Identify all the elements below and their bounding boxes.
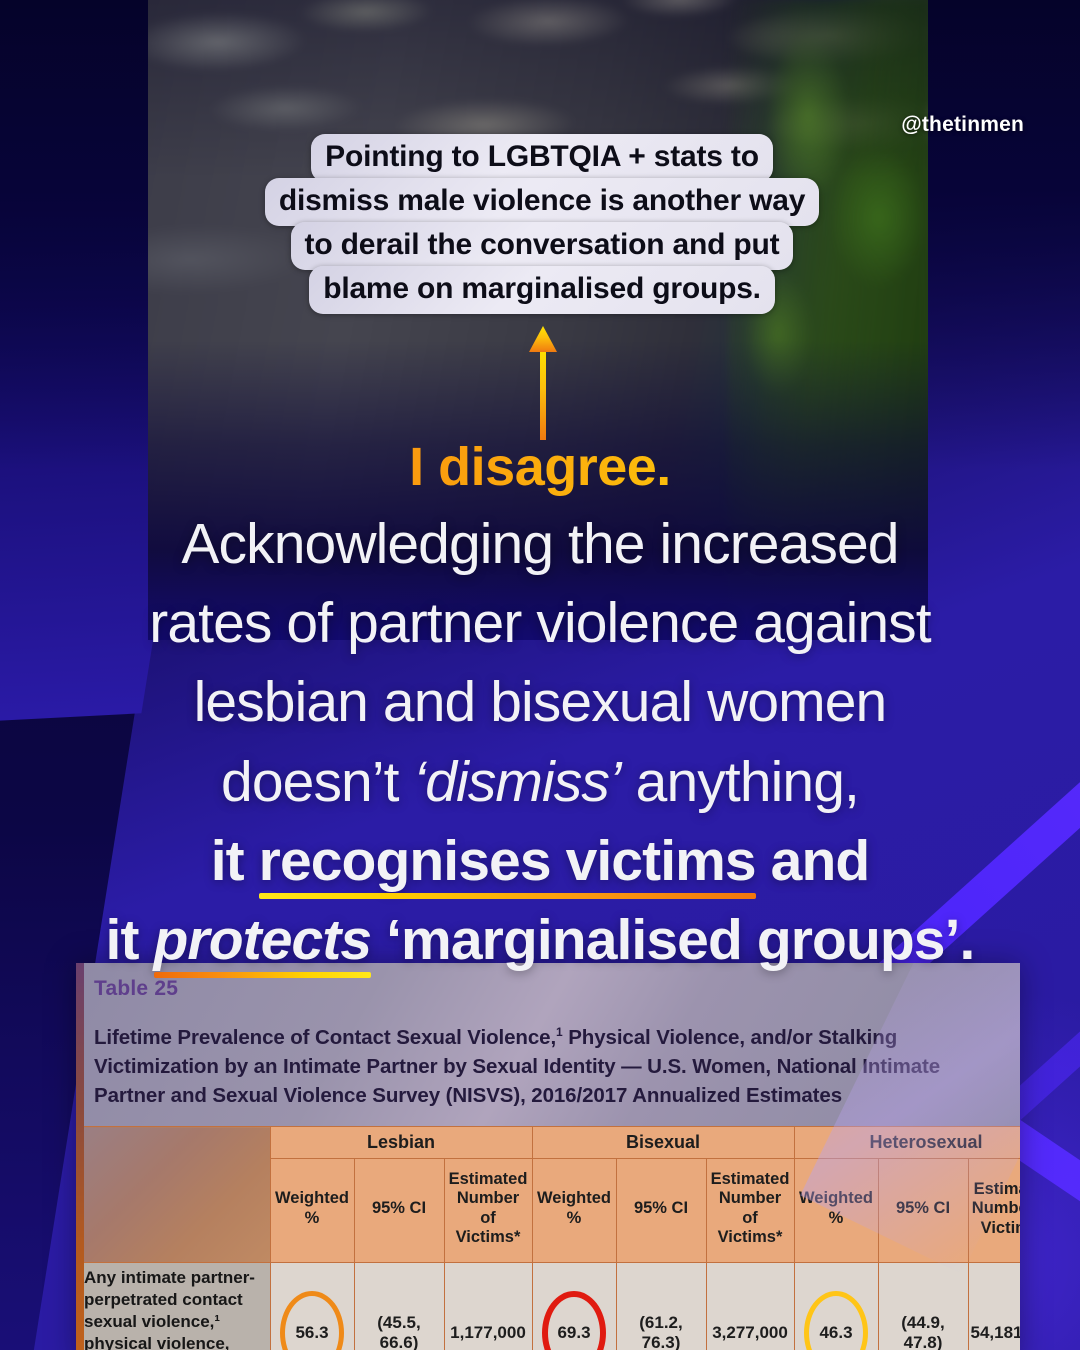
row-label-line: Any intimate partner-	[84, 1268, 255, 1287]
table-title-footnote-marker: 1	[556, 1025, 563, 1039]
quote-line-text: to derail the conversation and put	[291, 222, 794, 270]
cell-value: 56.3	[295, 1323, 328, 1342]
body-line-6-underlined-text: protects	[154, 908, 372, 972]
subheader-text: Estimated	[449, 1170, 528, 1188]
body-line-5-underlined-text: recognises victims	[259, 829, 756, 893]
body-line-5: it recognises victims and	[0, 822, 1080, 901]
subheader-text: %	[305, 1209, 320, 1227]
poster-canvas: @thetinmen Pointing to LGBTQIA + stats t…	[0, 0, 1080, 1350]
body-line-5-a: it	[211, 829, 259, 893]
body-line-2: rates of partner violence against	[0, 584, 1080, 663]
body-copy: Acknowledging the increased rates of par…	[0, 505, 1080, 980]
quote-line: blame on marginalised groups.	[232, 270, 852, 314]
cell-value: 46.3	[819, 1323, 852, 1342]
prevalence-table: Lesbian Bisexual Heterosexual Weighted% …	[76, 1126, 1020, 1350]
quote-line: dismiss male violence is another way	[232, 182, 852, 226]
cell-value: 69.3	[557, 1323, 590, 1342]
body-line-5-underlined: recognises victims	[259, 822, 756, 901]
subheader-text: %	[567, 1209, 582, 1227]
table-title-line-1a: Lifetime Prevalence of Contact Sexual Vi…	[94, 1026, 556, 1049]
cell-content: 69.3	[535, 1323, 614, 1343]
table-card-header: Table 25 Lifetime Prevalence of Contact …	[76, 963, 1020, 1126]
cell-lesbian-ci: (45.5, 66.6)	[354, 1263, 444, 1350]
subheader-text: %	[829, 1209, 844, 1227]
cell-lesbian-weighted: 56.3	[270, 1263, 354, 1350]
table-row: Any intimate partner- perpetrated contac…	[76, 1263, 1020, 1350]
body-line-6-underlined: protects	[154, 901, 372, 980]
group-header-bisexual: Bisexual	[532, 1127, 794, 1159]
subheader-text: Weighted	[275, 1189, 349, 1207]
row-label-line: sexual violence,¹	[84, 1312, 220, 1331]
table-number: Table 25	[94, 977, 1002, 1001]
cell-content: 56.3	[273, 1323, 352, 1343]
table-title-line-3: Partner and Sexual Violence Survey (NISV…	[94, 1084, 842, 1107]
cell-hetero-estimated: 54,181,000	[968, 1263, 1020, 1350]
subheader-hetero-weighted: Weighted%	[794, 1159, 878, 1263]
table-title: Lifetime Prevalence of Contact Sexual Vi…	[94, 1023, 1002, 1110]
quote-line-text: blame on marginalised groups.	[309, 266, 775, 314]
table-card-left-edge	[76, 963, 84, 1350]
subheader-text: Estimated	[711, 1170, 790, 1188]
subheader-text: Victims*	[981, 1219, 1020, 1237]
body-line-6: it protects ‘marginalised groups’.	[0, 901, 1080, 980]
subheader-text: Number of	[457, 1189, 519, 1226]
cell-lesbian-estimated: 1,177,000	[444, 1263, 532, 1350]
cell-content: 46.3	[797, 1323, 876, 1343]
subheader-hetero-ci: 95% CI	[878, 1159, 968, 1263]
table-title-line-1b: Physical Violence, and/or Stalking	[563, 1026, 898, 1049]
row-label: Any intimate partner- perpetrated contac…	[76, 1263, 270, 1350]
row-label-line: physical violence, and/	[84, 1334, 230, 1350]
body-line-4-emphasis: ‘dismiss’	[414, 750, 621, 814]
up-arrow-icon	[527, 326, 559, 445]
table-corner-cell	[76, 1127, 270, 1263]
account-handle: @thetinmen	[901, 113, 1024, 137]
body-line-4-a: doesn’t	[221, 750, 413, 814]
headline-disagree: I disagree.	[0, 436, 1080, 498]
subheader-lesbian-estimated: EstimatedNumber ofVictims*	[444, 1159, 532, 1263]
body-line-6-b: ‘marginalised groups’.	[371, 908, 974, 972]
cell-bisexual-estimated: 3,277,000	[706, 1263, 794, 1350]
body-line-3: lesbian and bisexual women	[0, 663, 1080, 742]
subheader-text: Victims*	[718, 1228, 783, 1246]
body-line-4-b: anything,	[621, 750, 859, 814]
table-card: Table 25 Lifetime Prevalence of Contact …	[76, 963, 1020, 1350]
subheader-hetero-estimated: EstimatedNumber ofVictims*	[968, 1159, 1020, 1263]
subheader-lesbian-weighted: Weighted%	[270, 1159, 354, 1263]
subheader-text: Weighted	[537, 1189, 611, 1207]
subheader-bisexual-ci: 95% CI	[616, 1159, 706, 1263]
group-header-heterosexual: Heterosexual	[794, 1127, 1020, 1159]
subheader-bisexual-estimated: EstimatedNumber ofVictims*	[706, 1159, 794, 1263]
quote-bubble: Pointing to LGBTQIA + stats to dismiss m…	[232, 134, 852, 314]
quote-line: to derail the conversation and put	[232, 226, 852, 270]
cell-hetero-weighted: 46.3	[794, 1263, 878, 1350]
body-line-1: Acknowledging the increased	[0, 505, 1080, 584]
subheader-text: Victims*	[456, 1228, 521, 1246]
cell-hetero-ci: (44.9, 47.8)	[878, 1263, 968, 1350]
quote-line-text: Pointing to LGBTQIA + stats to	[311, 134, 773, 182]
subheader-text: Weighted	[799, 1189, 873, 1207]
quote-line: Pointing to LGBTQIA + stats to	[232, 134, 852, 182]
quote-line-text: dismiss male violence is another way	[265, 178, 819, 226]
subheader-text: Number of	[972, 1199, 1020, 1217]
subheader-text: Estimated	[974, 1180, 1020, 1198]
cell-bisexual-ci: (61.2, 76.3)	[616, 1263, 706, 1350]
body-line-5-b: and	[756, 829, 870, 893]
body-line-6-a: it	[106, 908, 154, 972]
cell-bisexual-weighted: 69.3	[532, 1263, 616, 1350]
row-label-line: perpetrated contact	[84, 1290, 243, 1309]
subheader-lesbian-ci: 95% CI	[354, 1159, 444, 1263]
group-header-lesbian: Lesbian	[270, 1127, 532, 1159]
subheader-text: Number of	[719, 1189, 781, 1226]
subheader-bisexual-weighted: Weighted%	[532, 1159, 616, 1263]
body-line-4: doesn’t ‘dismiss’ anything,	[0, 743, 1080, 822]
table-group-header-row: Lesbian Bisexual Heterosexual	[76, 1127, 1020, 1159]
table-title-line-2: Victimization by an Intimate Partner by …	[94, 1055, 940, 1078]
